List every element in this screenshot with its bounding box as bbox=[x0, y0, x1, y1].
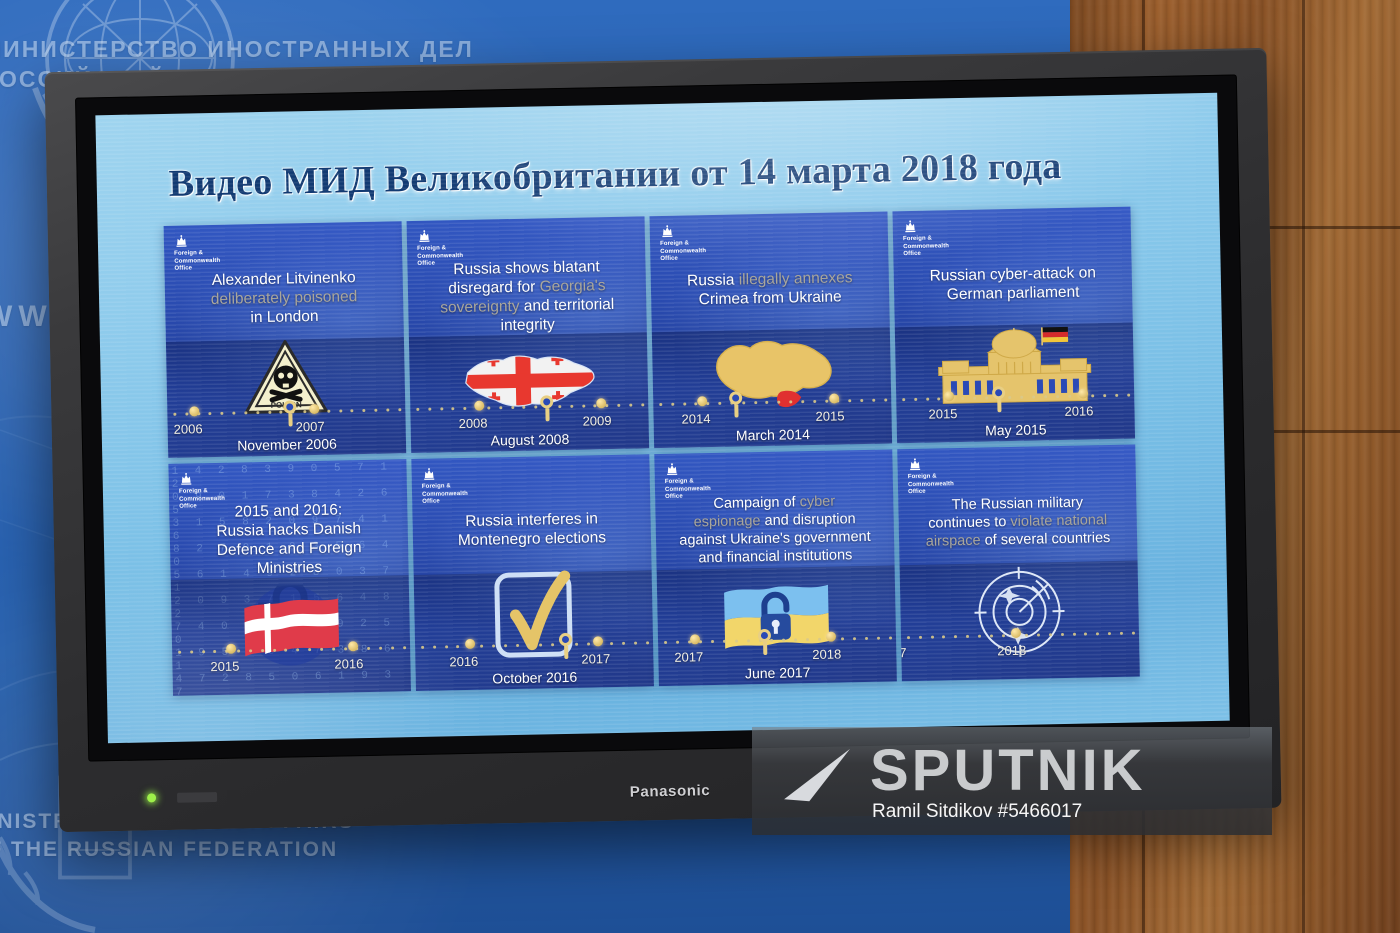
timeline-event-label: May 2015 bbox=[897, 420, 1135, 441]
card-timeline: 2006 2007 November 2006 bbox=[167, 397, 406, 454]
card-timeline: 2017 2018 June 2017 bbox=[658, 625, 897, 682]
timeline-dots bbox=[416, 400, 644, 413]
timeline-event-label: November 2006 bbox=[168, 434, 406, 455]
headline-seg: Ministries bbox=[257, 559, 323, 577]
headline-seg-highlight: airspace bbox=[926, 533, 981, 550]
royal-crest-icon bbox=[660, 225, 675, 238]
headline-seg: Russia interferes in bbox=[465, 510, 598, 530]
headline-seg-highlight: espionage bbox=[693, 513, 760, 530]
card-timeline: 7 2018 bbox=[901, 620, 1140, 677]
card-german-parliament[interactable]: Foreign & Commonwealth Office Russian cy… bbox=[892, 207, 1135, 444]
timeline-event-marker bbox=[729, 391, 744, 417]
fco-line-2: Commonwealth bbox=[179, 495, 225, 503]
headline-seg: disregard for bbox=[448, 278, 540, 297]
timeline-year-end: 2017 bbox=[581, 651, 610, 667]
fco-line-3: Office bbox=[908, 488, 954, 496]
fco-line-2: Commonwealth bbox=[174, 257, 220, 265]
royal-crest-icon bbox=[422, 468, 437, 481]
timeline-event-label: August 2008 bbox=[411, 429, 649, 450]
timeline-event-label: October 2016 bbox=[416, 667, 654, 688]
headline-seg: Montenegro elections bbox=[458, 529, 607, 549]
card-headline: Russia shows blatant disregard for Georg… bbox=[415, 256, 638, 336]
timeline-year-end: 2009 bbox=[582, 413, 611, 429]
card-timeline: 2008 2009 August 2008 bbox=[410, 392, 649, 449]
card-headline: Campaign of cyber espionage and disrupti… bbox=[657, 491, 892, 568]
fco-line-1: Foreign & bbox=[665, 478, 711, 486]
card-headline: Russian cyber-attack on German parliamen… bbox=[902, 263, 1125, 305]
fco-line-2: Commonwealth bbox=[665, 486, 711, 494]
timeline-year-end: 2018 bbox=[997, 643, 1026, 659]
fco-logo: Foreign & Commonwealth Office bbox=[422, 467, 469, 506]
fco-line-1: Foreign & bbox=[174, 250, 220, 258]
screenshot-stage: МИНИСТЕРСТВО ИНОСТРАННЫХ ДЕЛ РОССИЙСКОЙ … bbox=[0, 0, 1400, 933]
banner-line-1: МИНИСТЕРСТВО ИНОСТРАННЫХ ДЕЛ bbox=[0, 36, 474, 63]
fco-line-1: Foreign & bbox=[422, 483, 468, 491]
headline-seg-highlight: sovereignty bbox=[440, 298, 520, 317]
headline-seg: Alexander Litvinenko bbox=[212, 269, 356, 289]
timeline-year-end: 2016 bbox=[334, 656, 363, 672]
card-headline: Russia interferes in Montenegro election… bbox=[420, 508, 643, 550]
timeline-year-start: 2016 bbox=[449, 654, 478, 670]
card-timeline: 2016 2017 October 2016 bbox=[415, 630, 654, 687]
banner-line-5: OF THE RUSSIAN FEDERATION bbox=[0, 838, 338, 862]
timeline-year-start: 2008 bbox=[458, 416, 487, 432]
headline-seg-highlight: illegally annexes bbox=[739, 269, 853, 288]
timeline-year-start: 2006 bbox=[174, 421, 203, 437]
fco-line-3: Office bbox=[903, 250, 949, 258]
fco-logo: Foreign & Commonwealth Office bbox=[174, 234, 221, 273]
timeline-year-start: 2015 bbox=[928, 406, 957, 422]
card-montenegro[interactable]: Foreign & Commonwealth Office Russia int… bbox=[411, 454, 654, 691]
royal-crest-icon bbox=[907, 458, 922, 471]
display-monitor: Видео МИД Великобритании от 14 марта 201… bbox=[44, 48, 1281, 832]
headline-seg: integrity bbox=[500, 316, 555, 334]
timeline-year-end: 2018 bbox=[812, 646, 841, 662]
watermark-brand: SPUTNIK bbox=[870, 737, 1146, 804]
timeline-dots bbox=[902, 391, 1130, 404]
royal-crest-icon bbox=[174, 234, 189, 247]
card-timeline: 2015 2016 May 2015 bbox=[896, 383, 1135, 440]
headline-seg: Russia shows blatant bbox=[453, 258, 600, 278]
headline-seg: and financial institutions bbox=[698, 547, 852, 566]
headline-seg: The Russian military bbox=[952, 495, 1084, 514]
royal-crest-icon bbox=[179, 472, 194, 485]
card-airspace[interactable]: Foreign & Commonwealth Office The Russia… bbox=[897, 445, 1140, 682]
timeline-year-start: 2014 bbox=[681, 411, 710, 427]
headline-seg: in London bbox=[250, 308, 318, 326]
card-denmark[interactable]: 1 4 2 8 3 9 0 5 7 1 20 9 0 1 7 3 8 4 2 6… bbox=[168, 459, 411, 696]
fco-logo: Foreign & Commonwealth Office bbox=[903, 219, 950, 258]
headline-seg: and territorial bbox=[519, 296, 614, 315]
fco-line-1: Foreign & bbox=[908, 473, 954, 481]
headline-seg: continues to bbox=[928, 514, 1011, 532]
headline-seg-highlight: Georgia's bbox=[539, 277, 605, 295]
royal-crest-icon bbox=[903, 220, 918, 233]
timeline-event-label: March 2014 bbox=[654, 424, 892, 445]
slide-card-grid: Foreign & Commonwealth Office Alexander … bbox=[164, 205, 1203, 696]
headline-seg-highlight: cyber bbox=[800, 494, 836, 511]
timeline-event-marker bbox=[559, 633, 574, 659]
card-crimea[interactable]: Foreign & Commonwealth Office Russia ill… bbox=[650, 211, 893, 448]
fco-line-1: Foreign & bbox=[179, 488, 225, 496]
timeline-event-label: June 2017 bbox=[659, 662, 897, 683]
headline-seg: German parliament bbox=[947, 284, 1080, 304]
card-headline: 2015 and 2016: Russia hacks Danish Defen… bbox=[177, 499, 400, 579]
timeline-dots bbox=[178, 643, 406, 656]
fco-line-2: Commonwealth bbox=[908, 481, 954, 489]
fco-line-3: Office bbox=[422, 498, 468, 506]
timeline-year-end: 2016 bbox=[1064, 403, 1093, 419]
card-headline: Alexander Litvinenko deliberately poison… bbox=[173, 267, 396, 328]
headline-seg: of several countries bbox=[980, 530, 1110, 549]
fco-line-2: Commonwealth bbox=[422, 491, 468, 499]
timeline-dots bbox=[907, 629, 1135, 642]
timeline-event-marker bbox=[758, 629, 773, 655]
fco-logo: Foreign & Commonwealth Office bbox=[907, 457, 954, 496]
timeline-year-end: 2007 bbox=[296, 419, 325, 435]
sputnik-logo-icon bbox=[780, 745, 858, 807]
presentation-screen: Видео МИД Великобритании от 14 марта 201… bbox=[95, 93, 1229, 743]
timeline-event-marker bbox=[540, 395, 555, 421]
slide-title: Видео МИД Великобритании от 14 марта 201… bbox=[168, 142, 1179, 206]
card-headline: Russia illegally annexes Crimea from Ukr… bbox=[659, 268, 882, 310]
royal-crest-icon bbox=[417, 230, 432, 243]
timeline-year-end: 2015 bbox=[815, 408, 844, 424]
fco-line-2: Commonwealth bbox=[903, 243, 949, 251]
card-litvinenko[interactable]: Foreign & Commonwealth Office Alexander … bbox=[164, 221, 407, 458]
card-georgia[interactable]: Foreign & Commonwealth Office Russia sho… bbox=[407, 216, 650, 453]
timeline-year-start: 7 bbox=[899, 645, 907, 660]
headline-seg: Defence and Foreign bbox=[217, 539, 362, 559]
timeline-dots bbox=[421, 638, 649, 651]
headline-seg: Russia bbox=[687, 271, 739, 289]
royal-crest-icon bbox=[664, 463, 679, 476]
card-timeline: 2015 2016 bbox=[172, 635, 411, 692]
headline-seg: 2015 and 2016: bbox=[234, 501, 342, 520]
fco-line-1: Foreign & bbox=[417, 245, 463, 253]
headline-seg: Russian cyber-attack on bbox=[929, 264, 1096, 284]
headline-seg-highlight: deliberately poisoned bbox=[211, 288, 358, 308]
timeline-event-marker bbox=[992, 386, 1007, 412]
headline-seg: Crimea from Ukraine bbox=[699, 288, 842, 308]
card-headline: The Russian military continues to violat… bbox=[898, 493, 1137, 552]
timeline-year-start: 2017 bbox=[674, 649, 703, 665]
fco-logo: Foreign & Commonwealth Office bbox=[660, 224, 707, 263]
headline-seg-highlight: violate national bbox=[1010, 512, 1107, 530]
fco-line-2: Commonwealth bbox=[417, 253, 463, 261]
headline-seg: and disruption bbox=[760, 511, 855, 529]
headline-seg: against Ukraine's government bbox=[679, 529, 871, 549]
fco-line-3: Office bbox=[660, 255, 706, 263]
card-timeline: 2014 2015 March 2014 bbox=[653, 387, 892, 444]
headline-seg: Campaign of bbox=[713, 494, 800, 512]
fco-line-1: Foreign & bbox=[903, 235, 949, 243]
timeline-dots bbox=[659, 395, 887, 408]
fco-line-1: Foreign & bbox=[660, 240, 706, 248]
card-ukraine-cyber[interactable]: Foreign & Commonwealth Office Campaign o… bbox=[654, 449, 897, 686]
sputnik-watermark: SPUTNIK Ramil Sitdikov #5466017 bbox=[752, 727, 1272, 835]
headline-seg: Russia hacks Danish bbox=[216, 520, 361, 540]
fco-line-2: Commonwealth bbox=[660, 248, 706, 256]
watermark-credit: Ramil Sitdikov #5466017 bbox=[872, 801, 1082, 823]
monitor-inner-bezel: Видео МИД Великобритании от 14 марта 201… bbox=[75, 74, 1250, 761]
timeline-year-start: 2015 bbox=[210, 659, 239, 675]
